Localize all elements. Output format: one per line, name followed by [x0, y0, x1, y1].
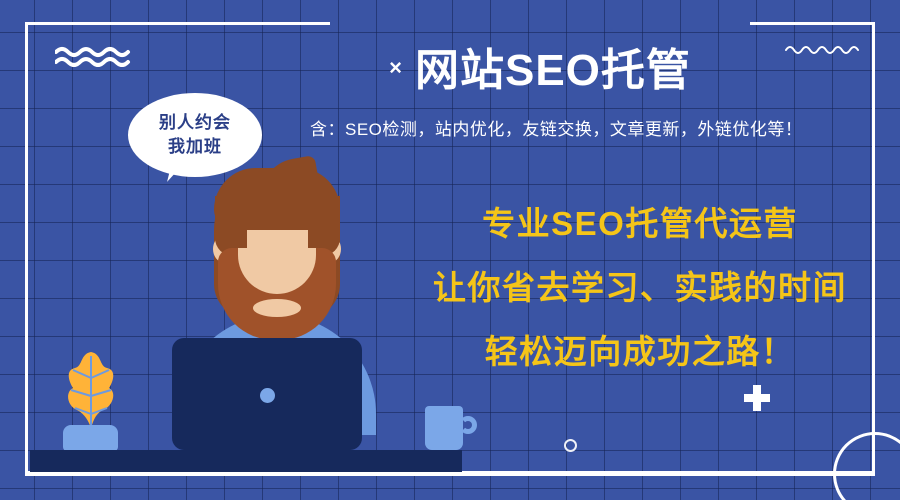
- seo-hosting-banner: ×网站SEO托管 含：SEO检测，站内优化，友链交换，文章更新，外链优化等！ 专…: [0, 0, 900, 500]
- frame-title-gap: [330, 10, 750, 38]
- subtitle: 含：SEO检测，站内优化，友链交换，文章更新，外链优化等！: [310, 118, 890, 142]
- hair-side-right: [308, 196, 340, 256]
- slogan-line-3: 轻松迈向成功之路！: [400, 320, 880, 384]
- desk: [30, 450, 462, 474]
- potted-plant-icon: [55, 348, 127, 430]
- plus-icon: [744, 385, 770, 411]
- laptop-logo-dot: [260, 388, 275, 403]
- slogan-line-2: 让你省去学习、实践的时间: [400, 256, 880, 320]
- page-title: ×网站SEO托管: [330, 44, 750, 95]
- slogan-line-1: 专业SEO托管代运营: [400, 192, 880, 256]
- slogan-list: 专业SEO托管代运营 让你省去学习、实践的时间 轻松迈向成功之路！: [400, 192, 880, 384]
- mouth: [253, 299, 301, 317]
- speech-bubble-line-2: 我加班: [168, 135, 222, 159]
- plant-pot: [63, 425, 118, 451]
- hair-side-left: [215, 196, 247, 256]
- coffee-mug-handle: [459, 416, 477, 434]
- speech-bubble: 别人约会 我加班: [128, 93, 262, 177]
- small-circle-icon: [564, 439, 577, 452]
- desk-edge-line: [25, 472, 875, 476]
- speech-bubble-line-1: 别人约会: [159, 111, 231, 135]
- x-mark-icon: ×: [389, 55, 403, 80]
- double-wave-icon: [55, 45, 133, 67]
- single-wave-icon: [785, 42, 860, 54]
- page-title-text: 网站SEO托管: [415, 46, 691, 95]
- speech-bubble-text: 别人约会 我加班: [128, 93, 262, 177]
- coffee-mug-icon: [425, 406, 463, 450]
